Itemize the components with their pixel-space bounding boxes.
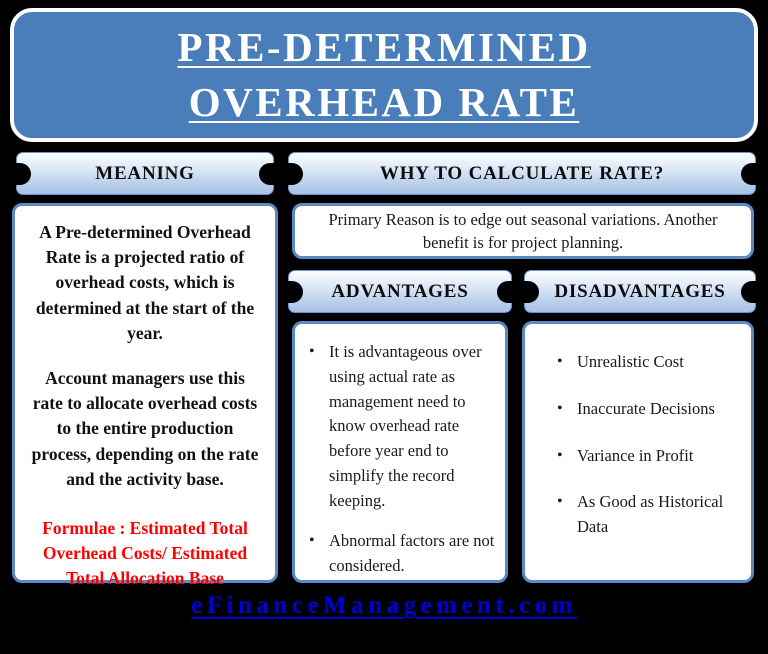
list-item: • Variance in Profit	[539, 444, 741, 469]
advantage-text-2: Abnormal factors are not considered.	[329, 529, 495, 579]
meaning-panel: A Pre-determined Overhead Rate is a proj…	[12, 203, 278, 583]
bullet-icon: •	[557, 444, 577, 468]
advantages-header-label: ADVANTAGES	[331, 281, 468, 303]
disadvantages-panel: • Unrealistic Cost • Inaccurate Decision…	[522, 321, 754, 583]
bullet-icon: •	[557, 397, 577, 421]
list-item: • It is advantageous over using actual r…	[309, 340, 495, 513]
meaning-paragraph-2: Account managers use this rate to alloca…	[31, 366, 259, 492]
meaning-header-label: MEANING	[95, 163, 195, 185]
list-item: • As Good as Historical Data	[539, 490, 741, 540]
advantages-header-plaque: ADVANTAGES	[288, 270, 512, 313]
why-header-label: WHY TO CALCULATE RATE?	[380, 163, 664, 185]
bullet-icon: •	[557, 490, 577, 514]
title-line-1: PRE-DETERMINED	[177, 20, 590, 75]
disadvantage-text-4: As Good as Historical Data	[577, 490, 741, 540]
footer-website-link[interactable]: eFinanceManagement.com	[191, 592, 577, 619]
meaning-header-plaque: MEANING	[16, 152, 274, 195]
title-line-2: OVERHEAD RATE	[189, 75, 580, 130]
title-banner: PRE-DETERMINED OVERHEAD RATE	[10, 8, 758, 142]
bullet-icon: •	[557, 350, 577, 374]
list-item: • Inaccurate Decisions	[539, 397, 741, 422]
list-item: • Unrealistic Cost	[539, 350, 741, 375]
disadvantage-text-1: Unrealistic Cost	[577, 350, 741, 375]
footer: eFinanceManagement.com	[0, 592, 768, 620]
disadvantage-text-3: Variance in Profit	[577, 444, 741, 469]
infographic-canvas: PRE-DETERMINED OVERHEAD RATE MEANING A P…	[0, 0, 768, 654]
why-header-plaque: WHY TO CALCULATE RATE?	[288, 152, 756, 195]
why-text: Primary Reason is to edge out seasonal v…	[309, 208, 737, 255]
disadvantages-header-plaque: DISADVANTAGES	[524, 270, 756, 313]
advantage-text-1: It is advantageous over using actual rat…	[329, 340, 495, 513]
list-item: • Abnormal factors are not considered.	[309, 529, 495, 579]
why-panel: Primary Reason is to edge out seasonal v…	[292, 203, 754, 259]
disadvantages-header-label: DISADVANTAGES	[554, 281, 725, 303]
meaning-paragraph-1: A Pre-determined Overhead Rate is a proj…	[31, 220, 259, 346]
meaning-formula: Formulae : Estimated Total Overhead Cost…	[31, 516, 259, 592]
bullet-icon: •	[309, 340, 329, 364]
disadvantage-text-2: Inaccurate Decisions	[577, 397, 741, 422]
bullet-icon: •	[309, 529, 329, 553]
advantages-panel: • It is advantageous over using actual r…	[292, 321, 508, 583]
